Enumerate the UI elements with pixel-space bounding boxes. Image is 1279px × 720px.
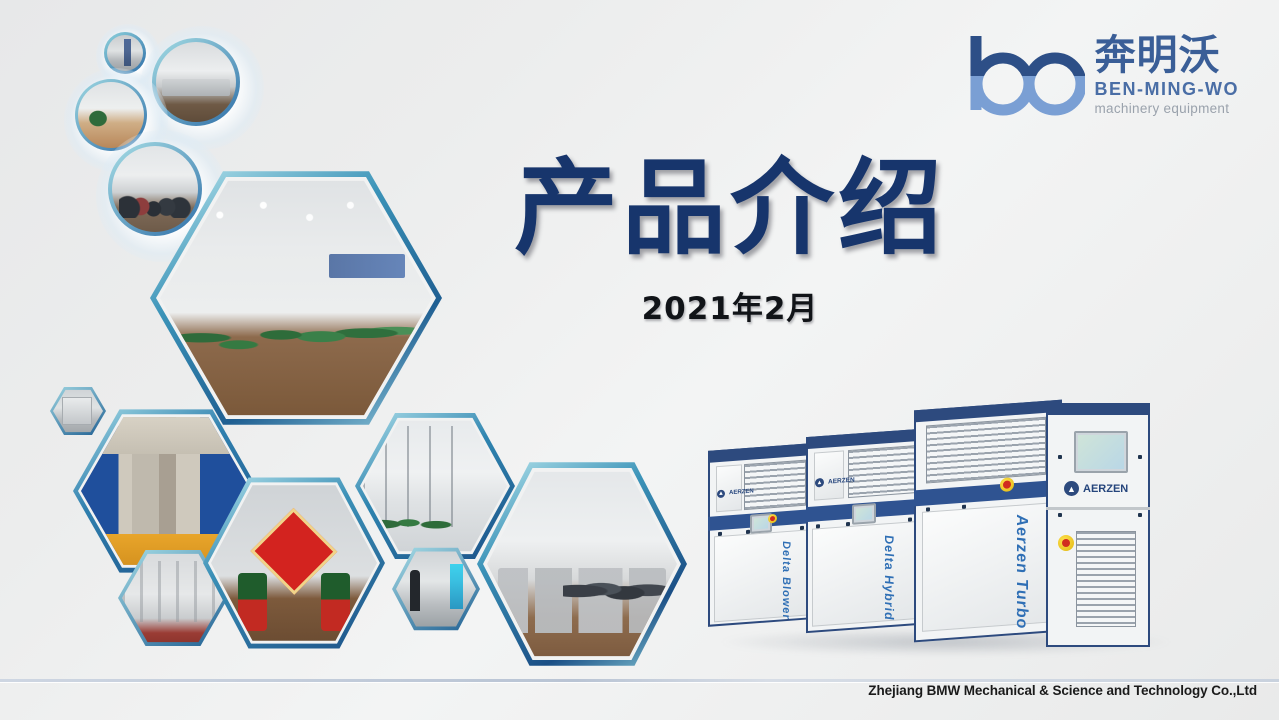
- bubble-office-equipment: [107, 35, 143, 71]
- bubble-desk-plant: [78, 82, 144, 148]
- machine-delta-hybrid: ▲ AERZEN Delta Hybrid: [806, 429, 920, 633]
- subtitle-date: 2021年2月: [470, 283, 990, 328]
- hmi-touch-panel[interactable]: [1074, 431, 1128, 473]
- machine-3-name: Aerzen Turbo: [1012, 514, 1030, 630]
- machine-side-face: [700, 385, 748, 633]
- aerzen-mark-icon: ▲: [815, 478, 824, 488]
- machine-brand-label: AERZEN: [828, 477, 855, 486]
- bo-logo-icon: [967, 32, 1085, 120]
- machine-2-name: Delta Hybrid: [882, 535, 896, 622]
- footer-company-name: Zhejiang BMW Mechanical & Science and Te…: [868, 683, 1257, 698]
- bubble-training-room: [112, 146, 198, 232]
- brand-name-en: BEN-MING-WO: [1095, 79, 1239, 101]
- brand-name-cn: 奔明沃: [1095, 35, 1239, 77]
- cabinet-emergency-stop-icon[interactable]: [1058, 535, 1074, 551]
- logo-text-block: 奔明沃 BEN-MING-WO machinery equipment: [1095, 32, 1239, 120]
- aerzen-machine-lineup: ▲ AERZEN Delta Blower ▲ AERZEN: [700, 385, 1190, 655]
- machine-aerzen-turbo: Aerzen Turbo: [914, 400, 1062, 643]
- page-title: 产品介绍: [470, 155, 990, 261]
- machine-control-cabinet: ▲ AERZEN: [1046, 403, 1150, 647]
- machine-1-name: Delta Blower: [780, 541, 792, 621]
- brand-tagline: machinery equipment: [1095, 101, 1239, 117]
- aerzen-mark-icon: ▲: [1064, 481, 1079, 496]
- footer-divider: [0, 679, 1279, 682]
- cabinet-brand-label: AERZEN: [1083, 483, 1128, 495]
- bubble-open-office: [156, 42, 236, 122]
- slide-canvas: 产品介绍 2021年2月: [0, 0, 1279, 720]
- title-block: 产品介绍 2021年2月: [470, 155, 990, 328]
- company-logo: 奔明沃 BEN-MING-WO machinery equipment: [967, 26, 1239, 126]
